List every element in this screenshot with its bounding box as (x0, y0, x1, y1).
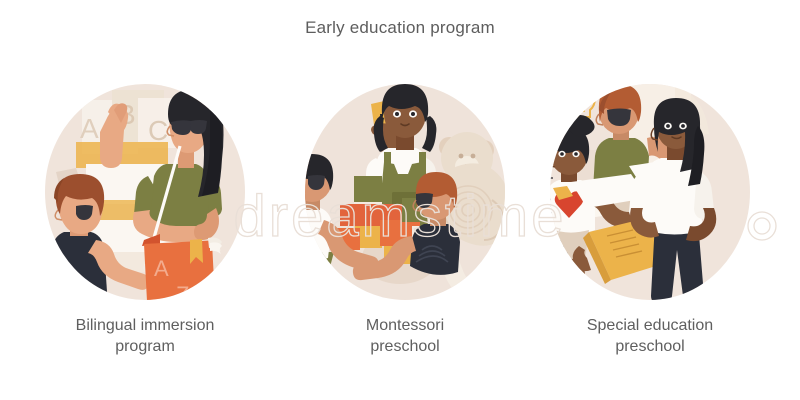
caption-line-1: Special education (525, 315, 775, 336)
illustration-page: Early education program (0, 0, 800, 400)
bilingual-immersion-svg: A B C (20, 80, 270, 305)
child-right-shirt (410, 224, 460, 275)
caption-line-1: Montessori (280, 315, 530, 336)
caption-line-2: program (20, 336, 270, 357)
caption-special-education-preschool: Special education preschool (525, 315, 775, 357)
panel-montessori-preschool: Montessori preschool (280, 80, 530, 380)
illustration-montessori-preschool (280, 80, 530, 305)
caption-bilingual-immersion: Bilingual immersion program (20, 315, 270, 357)
hair-bow (533, 118, 555, 139)
special-education-svg (525, 80, 775, 305)
illustration-bilingual-immersion: A B C (20, 80, 270, 305)
caption-montessori-preschool: Montessori preschool (280, 315, 530, 357)
caption-line-2: preschool (525, 336, 775, 357)
caption-line-1: Bilingual immersion (20, 315, 270, 336)
caption-line-2: preschool (280, 336, 530, 357)
book-letter-a: A (154, 256, 169, 281)
block-olive (354, 176, 382, 202)
letter-c: C (148, 115, 168, 146)
page-title: Early education program (0, 18, 800, 38)
book-letter-z: Z (176, 282, 189, 305)
montessori-preschool-svg (280, 80, 530, 305)
child-right-shoe (473, 276, 496, 300)
teacher-glasses (171, 120, 207, 135)
letter-a: A (80, 113, 99, 144)
panel-bilingual-immersion: A B C (20, 80, 270, 380)
child-left-shorts (297, 252, 334, 284)
illustration-special-education-preschool (525, 80, 775, 305)
orange-book: A Z (142, 234, 222, 305)
panel-special-education-preschool: Special education preschool (525, 80, 775, 380)
